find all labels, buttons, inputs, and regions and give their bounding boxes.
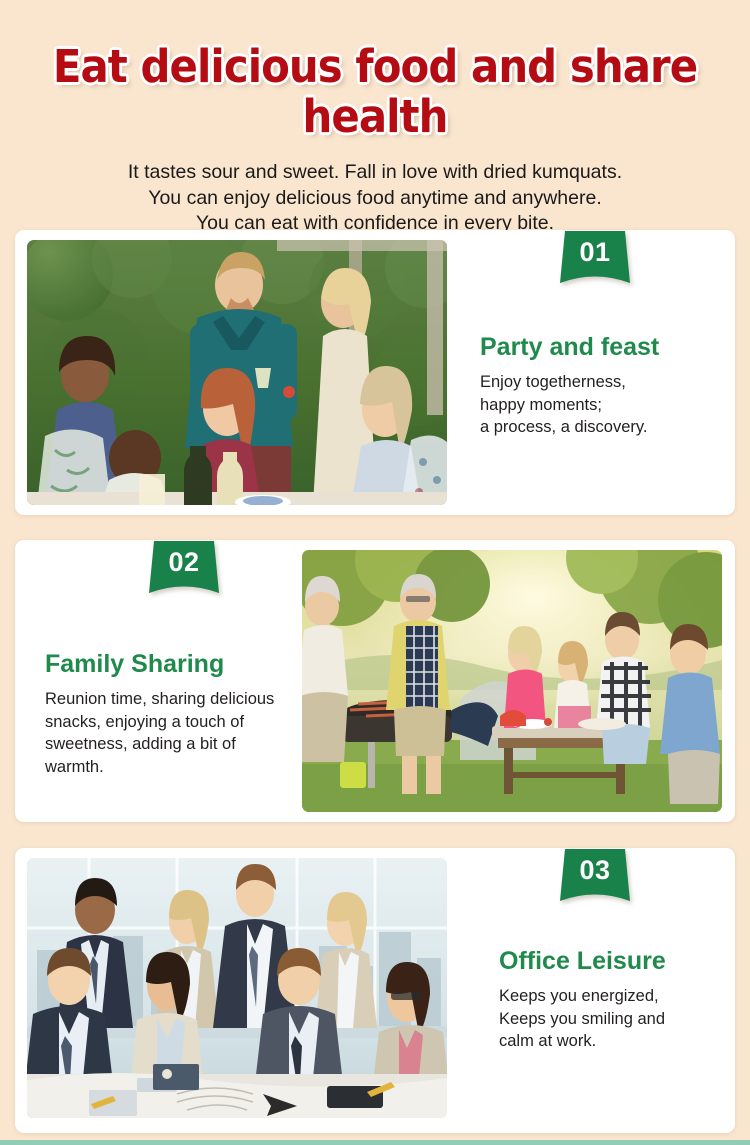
card-3-text: Office Leisure Keeps you energized, Keep…	[499, 947, 739, 1053]
card-3-desc-line-3: calm at work.	[499, 1030, 739, 1053]
card-1-desc-line-3: a process, a discovery.	[480, 416, 730, 439]
card-3-description: Keeps you energized, Keeps you smiling a…	[499, 985, 739, 1053]
card-1-desc-line-1: Enjoy togetherness,	[480, 371, 730, 394]
card-1-text: Party and feast Enjoy togetherness, happ…	[480, 333, 730, 439]
feature-card-3: 03 Office Leisure Keeps you energized, K…	[15, 848, 735, 1133]
card-2-number-badge: 02	[145, 541, 223, 601]
card-1-number: 01	[556, 237, 634, 268]
subtitle-line-2: You can enjoy delicious food anytime and…	[0, 186, 750, 212]
card-1-photo	[27, 240, 447, 505]
card-3-number: 03	[556, 855, 634, 886]
card-2-number: 02	[145, 547, 223, 578]
feature-card-1: 01 Party and feast Enjoy togetherness, h…	[15, 230, 735, 515]
family-barbecue-photo-icon	[302, 550, 722, 812]
card-1-desc-line-2: happy moments;	[480, 394, 730, 417]
card-1-title: Party and feast	[480, 333, 730, 361]
card-2-title: Family Sharing	[45, 650, 297, 678]
card-3-title: Office Leisure	[499, 947, 739, 975]
card-2-photo	[302, 550, 722, 812]
business-team-photo-icon	[27, 858, 447, 1118]
bottom-accent-strip	[0, 1140, 750, 1145]
promo-page: Eat delicious food and share health It t…	[0, 0, 750, 1145]
page-title: Eat delicious food and share health	[26, 42, 724, 142]
card-2-text: Family Sharing Reunion time, sharing del…	[45, 650, 297, 778]
page-subtitle: It tastes sour and sweet. Fall in love w…	[0, 160, 750, 237]
card-3-number-badge: 03	[556, 849, 634, 909]
card-3-photo	[27, 858, 447, 1118]
card-3-desc-line-1: Keeps you energized,	[499, 985, 739, 1008]
card-3-desc-line-2: Keeps you smiling and	[499, 1008, 739, 1031]
card-2-description: Reunion time, sharing delicious snacks, …	[45, 688, 297, 778]
feature-card-2: 02 Family Sharing Reunion time, sharing …	[15, 540, 735, 822]
card-1-number-badge: 01	[556, 231, 634, 291]
subtitle-line-1: It tastes sour and sweet. Fall in love w…	[0, 160, 750, 186]
page-header: Eat delicious food and share health It t…	[0, 0, 750, 237]
card-2-desc-line-1: Reunion time, sharing delicious snacks, …	[45, 688, 297, 778]
garden-party-photo-icon	[27, 240, 447, 505]
card-1-description: Enjoy togetherness, happy moments; a pro…	[480, 371, 730, 439]
